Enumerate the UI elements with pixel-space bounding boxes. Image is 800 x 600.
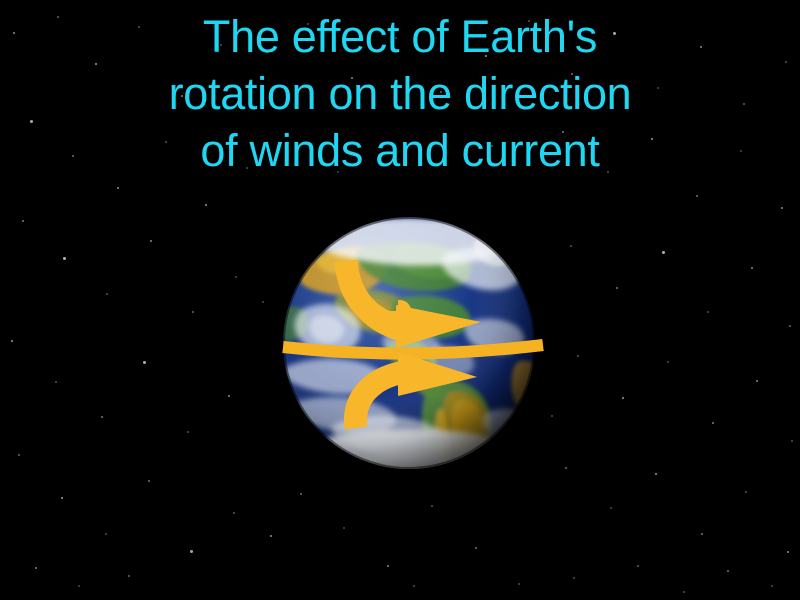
star <box>771 585 773 587</box>
star <box>106 293 108 295</box>
star <box>35 567 38 570</box>
star <box>78 585 80 587</box>
star <box>791 440 793 442</box>
star <box>745 491 747 493</box>
star <box>413 585 415 587</box>
star <box>751 267 754 270</box>
star <box>712 422 714 424</box>
star <box>117 187 120 190</box>
star <box>55 381 57 383</box>
star <box>577 355 579 357</box>
star <box>789 325 791 327</box>
star <box>573 577 575 579</box>
star <box>18 454 20 456</box>
star <box>190 550 193 553</box>
star <box>192 311 194 313</box>
star <box>610 507 612 509</box>
star <box>701 533 703 535</box>
slide-canvas: The effect of Earth's rotation on the di… <box>0 0 800 600</box>
star <box>696 195 698 197</box>
earth-globe <box>282 216 536 470</box>
star <box>637 565 639 567</box>
star <box>683 591 685 593</box>
star <box>707 311 709 313</box>
star <box>262 301 264 303</box>
star <box>551 415 553 417</box>
star <box>655 473 658 476</box>
page-title: The effect of Earth's rotation on the di… <box>0 8 800 179</box>
star <box>570 245 572 247</box>
star <box>143 361 146 364</box>
star <box>475 547 477 549</box>
star <box>63 257 66 260</box>
star <box>667 361 669 363</box>
star <box>11 340 14 343</box>
star <box>148 480 150 482</box>
star <box>662 251 665 254</box>
title-line-1: The effect of Earth's <box>0 8 800 65</box>
star <box>781 207 784 210</box>
star <box>343 527 345 529</box>
star <box>518 583 520 585</box>
title-line-3: of winds and current <box>0 122 800 179</box>
star <box>387 565 390 568</box>
star <box>128 575 130 577</box>
star <box>150 240 153 243</box>
star <box>101 416 103 418</box>
star <box>622 397 625 400</box>
star <box>431 505 433 507</box>
star <box>787 551 790 554</box>
star <box>187 431 189 433</box>
star <box>105 533 107 535</box>
star <box>233 512 235 514</box>
star <box>22 220 24 222</box>
star <box>616 287 618 289</box>
star <box>756 380 759 383</box>
star <box>228 395 231 398</box>
star <box>270 535 273 538</box>
star <box>565 467 567 469</box>
star <box>300 493 302 495</box>
star <box>205 204 208 207</box>
title-line-2: rotation on the direction <box>0 65 800 122</box>
star <box>61 497 64 500</box>
star <box>235 276 237 278</box>
star <box>727 570 729 572</box>
